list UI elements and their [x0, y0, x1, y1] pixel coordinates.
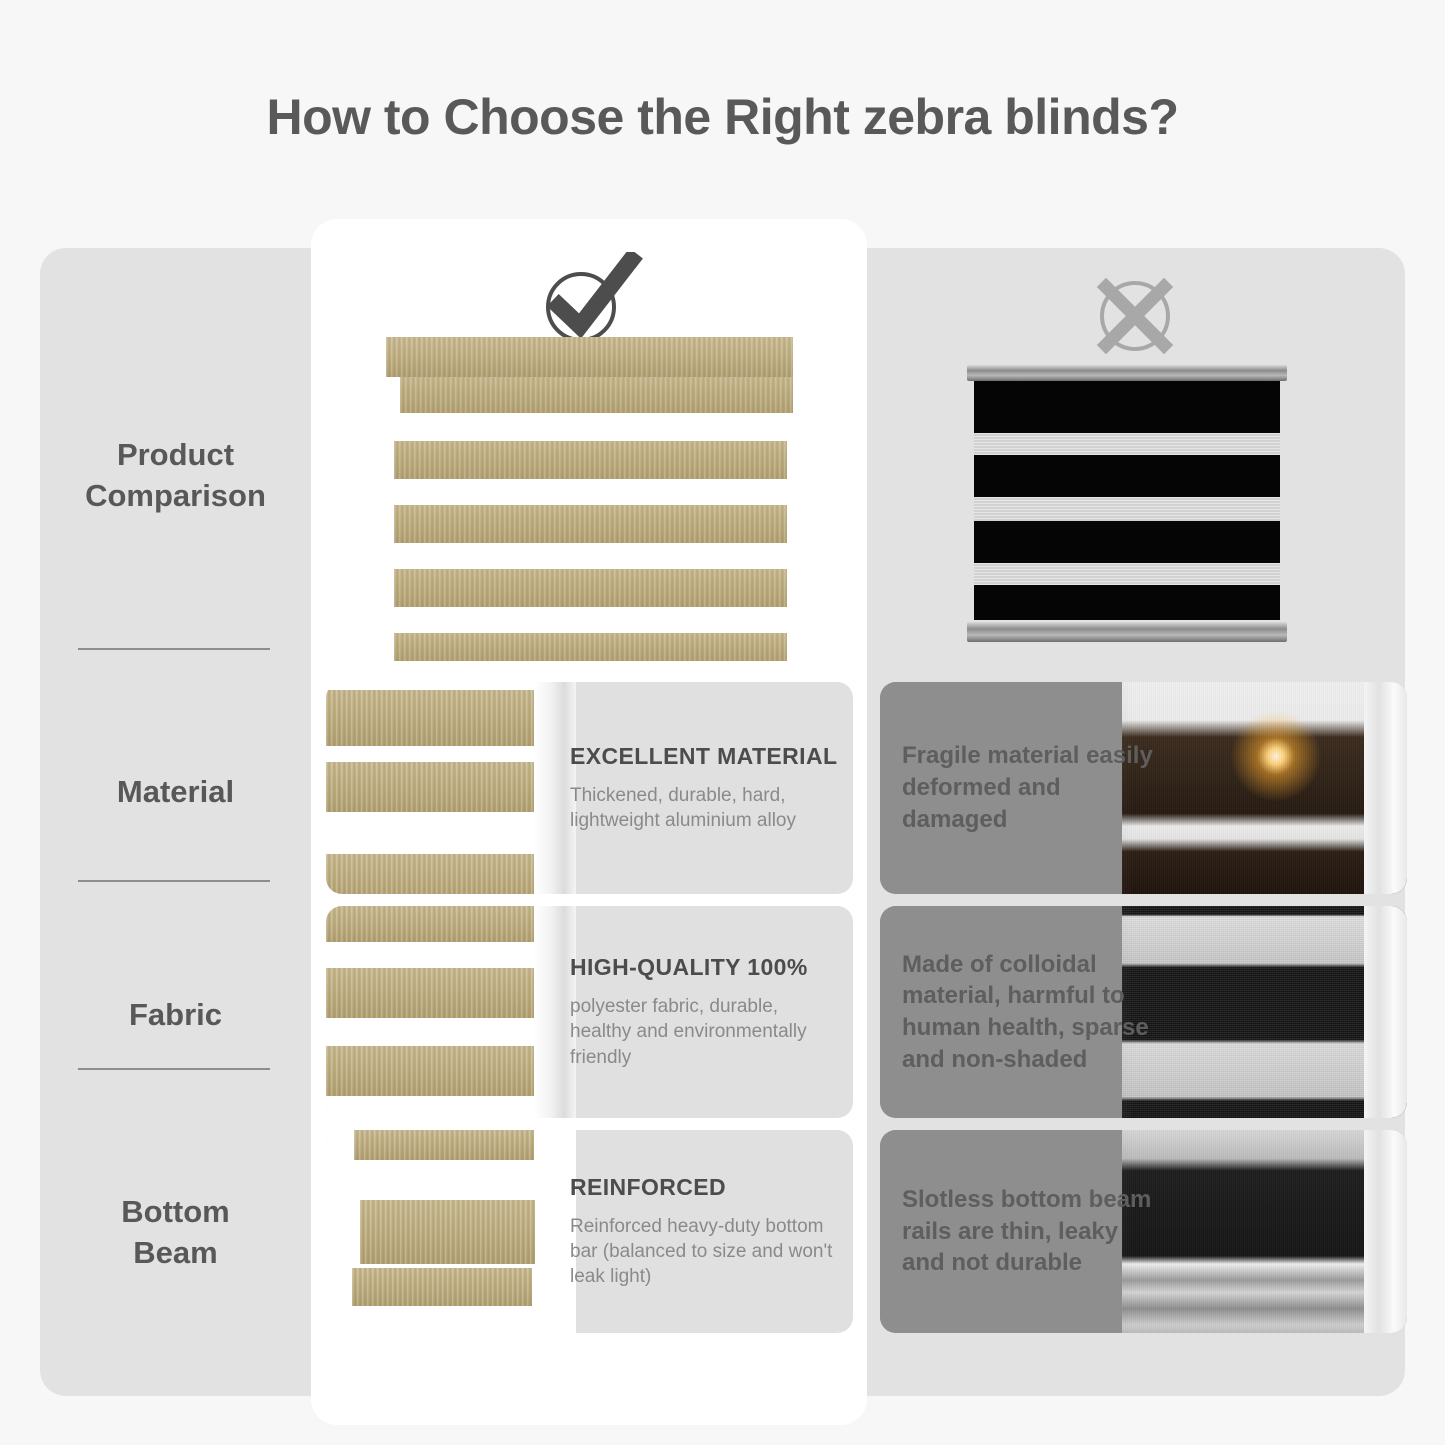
row-label-line1: Product: [40, 434, 311, 475]
good-bottom-beam-text: REINFORCED Reinforced heavy-duty bottom …: [570, 1130, 853, 1333]
bad-feature-card-bottom-beam: Slotless bottom beam rails are thin, lea…: [880, 1130, 1407, 1333]
beige-slat: [326, 968, 536, 1018]
beige-slat: [326, 854, 536, 894]
beige-bottom-bar: [394, 633, 787, 661]
row-label-product-comparison: Product Comparison: [40, 434, 311, 516]
beige-slat: [326, 1046, 536, 1096]
beige-slat: [326, 762, 536, 812]
beige-bottom-bar: [352, 1268, 532, 1306]
bad-blind-opaque-stripe: [974, 455, 1280, 497]
beige-slat: [394, 569, 787, 607]
label-divider-1: [78, 648, 270, 650]
beige-slat: [394, 441, 787, 479]
bad-blind-opaque-stripe: [974, 585, 1280, 620]
feature-body: Reinforced heavy-duty bottom bar (balanc…: [570, 1214, 843, 1290]
row-label-line2: Comparison: [40, 475, 311, 516]
good-feature-card-fabric: HIGH-QUALITY 100% polyester fabric, dura…: [326, 906, 853, 1118]
row-label-line2: Beam: [40, 1232, 311, 1273]
bad-blind-sheer-stripe: [974, 433, 1280, 455]
check-circle-icon: [533, 252, 643, 348]
beige-slat: [360, 1200, 535, 1264]
feature-body: polyester fabric, durable, healthy and e…: [570, 994, 843, 1070]
label-divider-2: [78, 880, 270, 882]
beige-slat: [400, 377, 793, 413]
bad-feature-card-fabric: Made of colloidal material, harmful to h…: [880, 906, 1407, 1118]
bad-headrail: [967, 365, 1287, 381]
bad-fabric-text: Made of colloidal material, harmful to h…: [902, 906, 1162, 1118]
good-hero-image: [386, 337, 793, 667]
good-material-photo: [326, 682, 576, 894]
row-label-column: Product Comparison Material Fabric Botto…: [40, 248, 311, 1396]
bad-blind-sheer-stripe: [974, 563, 1280, 585]
row-label-fabric: Fabric: [40, 994, 311, 1035]
beige-slat: [354, 1130, 534, 1160]
cross-circle-icon: [1080, 268, 1190, 364]
bad-blind-opaque-stripe: [974, 381, 1280, 433]
row-label-material: Material: [40, 771, 311, 812]
feature-heading: EXCELLENT MATERIAL: [570, 743, 843, 770]
bad-bottom-beam-text: Slotless bottom beam rails are thin, lea…: [902, 1130, 1162, 1333]
infographic-page: How to Choose the Right zebra blinds? Pr…: [0, 0, 1445, 1445]
page-title: How to Choose the Right zebra blinds?: [0, 88, 1445, 146]
row-label-line1: Fabric: [40, 994, 311, 1035]
row-label-bottom-beam: Bottom Beam: [40, 1191, 311, 1273]
good-bottom-beam-photo: [326, 1130, 576, 1333]
row-label-line1: Material: [40, 771, 311, 812]
feature-heading: Fragile material easily deformed and dam…: [902, 740, 1162, 835]
good-feature-card-bottom-beam: REINFORCED Reinforced heavy-duty bottom …: [326, 1130, 853, 1333]
good-fabric-photo: [326, 906, 576, 1118]
beige-slat: [326, 690, 536, 746]
bad-bottom-rail: [967, 622, 1287, 642]
bad-feature-card-material: Fragile material easily deformed and dam…: [880, 682, 1407, 894]
label-divider-3: [78, 1068, 270, 1070]
bad-blind-sheer-stripe: [974, 497, 1280, 521]
bad-hero-image: [967, 365, 1287, 650]
row-label-line1: Bottom: [40, 1191, 311, 1232]
beige-headrail: [386, 337, 793, 377]
good-material-text: EXCELLENT MATERIAL Thickened, durable, h…: [570, 682, 853, 894]
bad-blind-opaque-stripe: [974, 521, 1280, 563]
feature-body: Thickened, durable, hard, lightweight al…: [570, 783, 843, 834]
beige-slat: [394, 505, 787, 543]
beige-slat: [326, 906, 536, 942]
feature-heading: Slotless bottom beam rails are thin, lea…: [902, 1184, 1162, 1279]
good-feature-card-material: EXCELLENT MATERIAL Thickened, durable, h…: [326, 682, 853, 894]
good-fabric-text: HIGH-QUALITY 100% polyester fabric, dura…: [570, 906, 853, 1118]
feature-heading: REINFORCED: [570, 1174, 843, 1201]
bad-material-text: Fragile material easily deformed and dam…: [902, 682, 1162, 894]
feature-heading: HIGH-QUALITY 100%: [570, 954, 843, 981]
feature-heading: Made of colloidal material, harmful to h…: [902, 949, 1162, 1076]
